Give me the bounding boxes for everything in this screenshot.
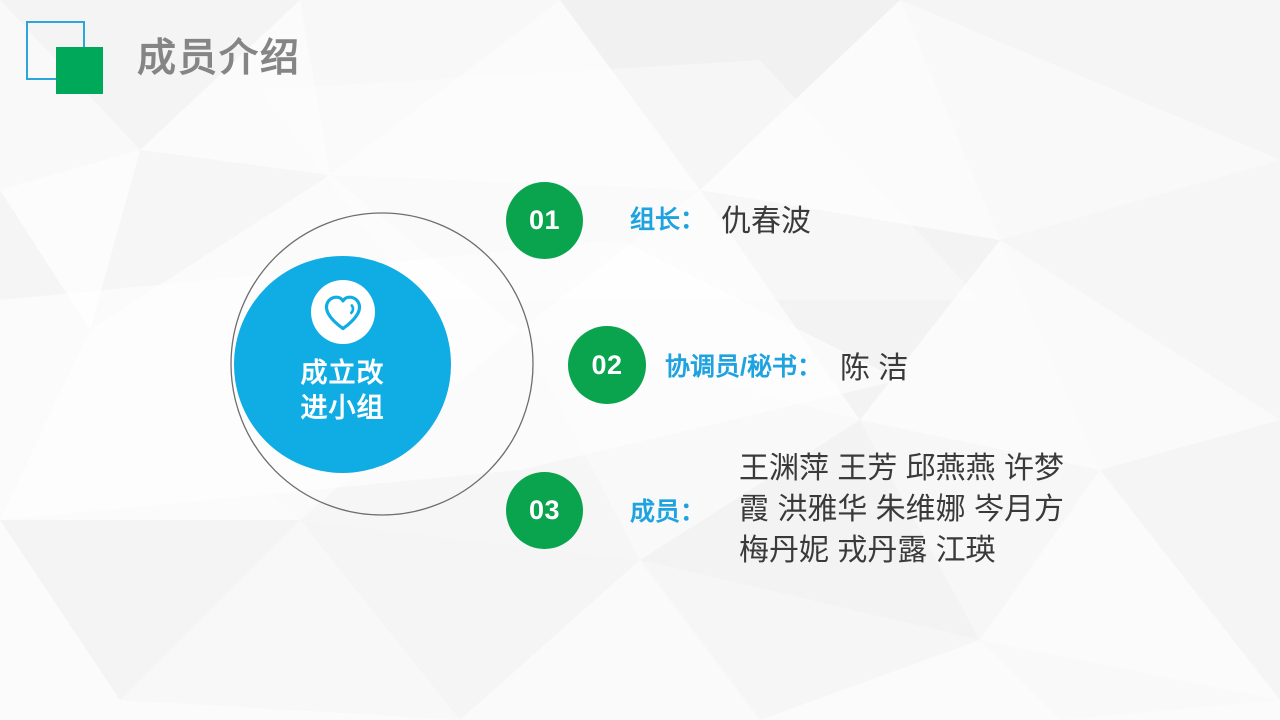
step-number-01: 01 (529, 207, 560, 234)
step-badge-01[interactable]: 01 (506, 182, 583, 259)
heart-icon (323, 294, 363, 331)
header-solid-square (56, 47, 103, 94)
slide-canvas: 成员介绍 成立改 进小组 01 02 03 组长： 仇春波 协调员/秘书： 陈 … (0, 0, 1280, 720)
entry-members-role: 成员： (630, 492, 705, 528)
hub-icon-badge (311, 280, 375, 344)
entry-members: 成员： 王渊萍 王芳 邱燕燕 许梦 霞 洪雅华 朱维娜 岑月方 梅丹妮 戎丹露 … (630, 448, 1064, 571)
entry-coordinator: 协调员/秘书： 陈 洁 (665, 343, 908, 387)
entry-leader-role: 组长： (630, 200, 705, 236)
entry-members-names: 王渊萍 王芳 邱燕燕 许梦 霞 洪雅华 朱维娜 岑月方 梅丹妮 戎丹露 江瑛 (739, 448, 1064, 571)
hub-label-line1: 成立改 (301, 356, 385, 391)
hub-label-line2: 进小组 (301, 391, 385, 426)
step-badge-02[interactable]: 02 (568, 326, 646, 404)
hub-label: 成立改 进小组 (301, 356, 385, 426)
step-badge-03[interactable]: 03 (506, 472, 583, 549)
entry-leader: 组长： 仇春波 (630, 196, 811, 240)
entry-leader-name: 仇春波 (721, 196, 811, 240)
center-hub: 成立改 进小组 (234, 256, 451, 473)
entry-coordinator-role: 协调员/秘书： (665, 347, 822, 383)
page-title: 成员介绍 (137, 31, 301, 87)
step-number-02: 02 (591, 352, 622, 379)
step-number-03: 03 (529, 497, 560, 524)
entry-coordinator-name: 陈 洁 (840, 343, 908, 387)
